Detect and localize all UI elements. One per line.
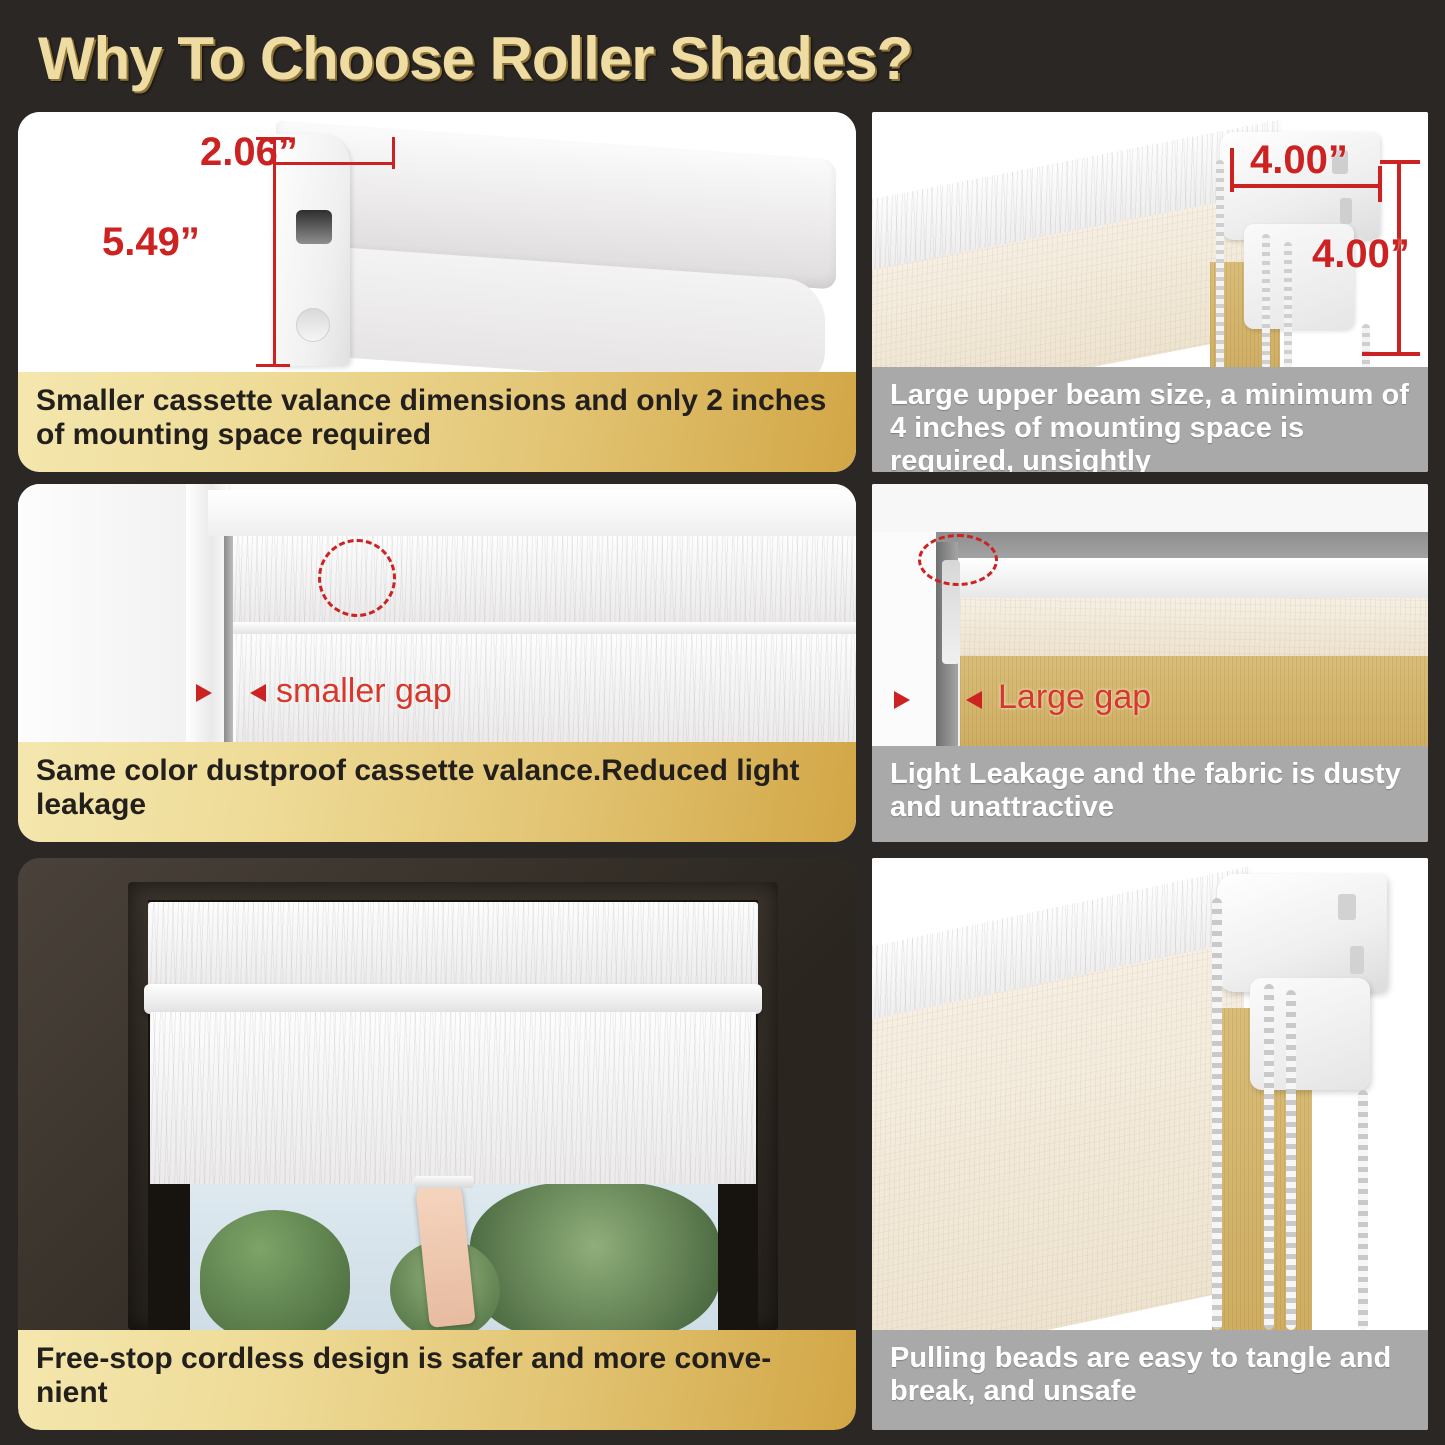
panel-5-caption-text: Free-stop cordless design is safer and m… xyxy=(36,1342,840,1410)
height-dim-tick-top xyxy=(256,137,290,140)
panel-5-caption: Free-stop cordless design is safer and m… xyxy=(18,1330,856,1430)
panel-1-caption: Smaller cassette valance dimensions and … xyxy=(18,372,856,472)
valance-shadow-line xyxy=(232,622,856,634)
panel-competitor-light-leakage: Large gap Light Leakage and the fabric i… xyxy=(872,484,1428,842)
bead-chain-2 xyxy=(1262,234,1270,367)
large-gap-label: Large gap xyxy=(998,678,1151,717)
panel-6-photo xyxy=(872,858,1428,1330)
panel-3-photo: smaller gap xyxy=(18,484,856,742)
comp6-bead-chain-2 xyxy=(1264,984,1274,1330)
height-dim-tick-bottom xyxy=(256,364,290,367)
panel-5-photo xyxy=(18,858,856,1330)
panel-6-caption-text: Pulling beads are easy to tangle and bre… xyxy=(890,1342,1412,1408)
panel-our-dustproof-valance: smaller gap Same color dustproof cassett… xyxy=(18,484,856,842)
panel-3-caption: Same color dustproof cassette valance.Re… xyxy=(18,742,856,842)
width-dim-tick-right xyxy=(392,137,395,169)
shade-pull-tab xyxy=(414,1176,474,1188)
panel-competitor-pull-beads: Pulling beads are easy to tangle and bre… xyxy=(872,858,1428,1430)
bead-chain-4 xyxy=(1362,324,1370,367)
bracket-slot-2-icon xyxy=(1340,198,1352,224)
comp-fabric-cream xyxy=(960,598,1428,656)
comp6-bracket-upper xyxy=(1217,874,1387,992)
comp-width-dim-line xyxy=(1230,184,1382,188)
comp-highlight-circle-icon xyxy=(918,534,998,586)
panel-2-photo: 4.00” 4.00” xyxy=(872,112,1428,367)
comp-width-tick-right xyxy=(1378,166,1382,202)
panel-competitor-beam-size: 4.00” 4.00” Large upper beam size, a min… xyxy=(872,112,1428,472)
panel-2-caption-text: Large upper beam size, a minimum of 4 in… xyxy=(890,379,1412,472)
comp6-bracket-slot-1-icon xyxy=(1338,894,1356,920)
gap-arrow-right-icon xyxy=(250,684,266,702)
height-dim-line xyxy=(273,137,276,367)
page-title: Why To Choose Roller Shades? xyxy=(38,24,912,93)
panel-4-photo: Large gap xyxy=(872,484,1428,746)
panel-3-caption-text: Same color dustproof cassette valance.Re… xyxy=(36,754,840,822)
smaller-gap-label: smaller gap xyxy=(276,672,452,711)
panel-6-caption: Pulling beads are easy to tangle and bre… xyxy=(872,1330,1428,1430)
wall-surface xyxy=(18,484,208,742)
comp6-bead-chain-4 xyxy=(1358,1090,1368,1330)
end-cap-slot-icon xyxy=(296,210,332,244)
end-cap-screw-icon xyxy=(296,308,330,342)
comp-gap-arrow-left-icon xyxy=(894,691,910,709)
comp-width-tick-left xyxy=(1230,148,1234,192)
comp-gap-arrow-right-icon xyxy=(966,691,982,709)
panel-2-caption: Large upper beam size, a minimum of 4 in… xyxy=(872,367,1428,472)
gap-arrow-left-icon xyxy=(196,684,212,702)
window-frame-top xyxy=(208,490,856,536)
comp-wall-top xyxy=(872,484,1428,532)
comp6-bracket-slot-2-icon xyxy=(1350,946,1364,974)
comp-height-tick-bottom xyxy=(1362,352,1420,356)
panel-1-caption-text: Smaller cassette valance dimensions and … xyxy=(36,384,840,452)
comp6-bead-chain-1 xyxy=(1212,898,1222,1330)
tree-left xyxy=(200,1210,350,1330)
infographic-root: Why To Choose Roller Shades? 2.06” 5.49”… xyxy=(0,0,1445,1445)
comp-height-tick-top xyxy=(1380,160,1420,164)
cordless-valance xyxy=(148,902,758,992)
panel-our-valance-dimensions: 2.06” 5.49” Smaller cassette valance dim… xyxy=(18,112,856,472)
bead-chain-3 xyxy=(1284,242,1292,367)
bead-chain-1 xyxy=(1216,160,1224,367)
gap-strip xyxy=(224,536,233,742)
panel-our-cordless-design: Free-stop cordless design is safer and m… xyxy=(18,858,856,1430)
cordless-shade-fabric xyxy=(150,1012,756,1184)
panel-4-caption-text: Light Leakage and the fabric is dusty an… xyxy=(890,758,1412,824)
cordless-bottom-rail xyxy=(144,984,762,1014)
panel-4-caption: Light Leakage and the fabric is dusty an… xyxy=(872,746,1428,842)
height-dim-label: 5.49” xyxy=(102,220,200,265)
highlight-circle-icon xyxy=(318,539,396,617)
panel-1-photo: 2.06” 5.49” xyxy=(18,112,856,372)
tree-right xyxy=(470,1182,718,1330)
comp-width-dim-label: 4.00” xyxy=(1250,138,1348,183)
comp6-bead-chain-3 xyxy=(1286,990,1296,1330)
comp-height-dim-label: 4.00” xyxy=(1312,232,1410,277)
